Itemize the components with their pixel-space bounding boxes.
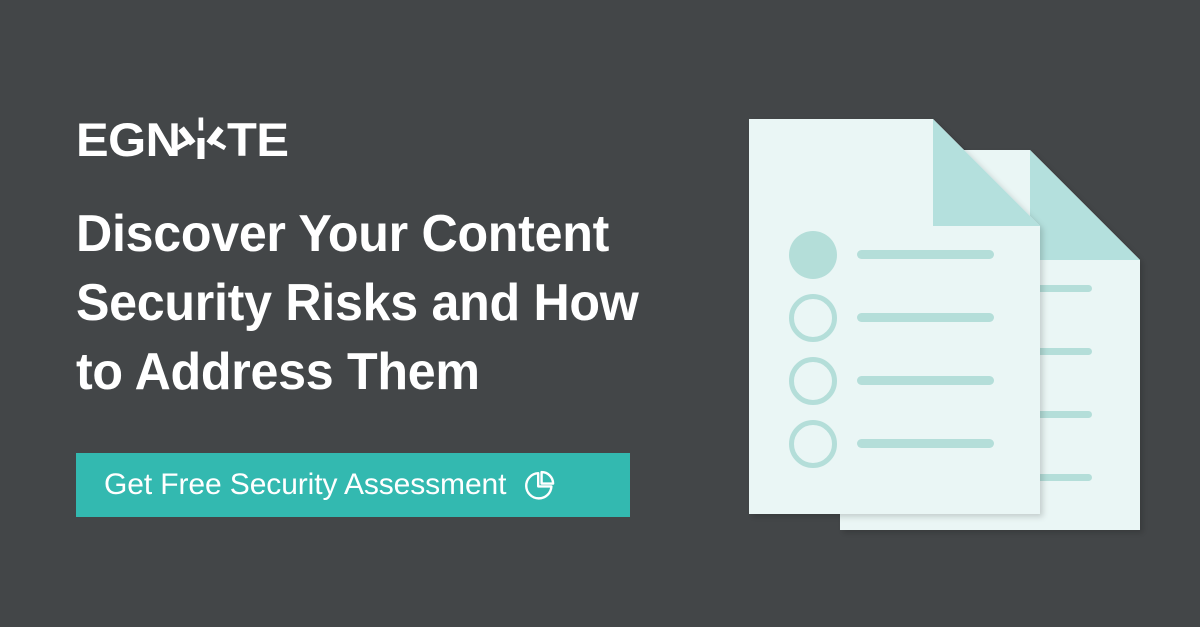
bullet-filled [789, 231, 837, 279]
logo-wordmark: EGN [76, 113, 286, 165]
cta-button-label: Get Free Security Assessment [104, 470, 506, 500]
headline: Discover Your Content Security Risks and… [76, 200, 694, 407]
documents-illustration [730, 100, 1170, 580]
get-free-security-assessment-button[interactable]: Get Free Security Assessment [76, 453, 630, 517]
pie-chart-icon [522, 469, 556, 503]
egnyte-y-star-icon [175, 114, 227, 166]
logo-letters-after-mark: TE [227, 116, 288, 163]
logo-letters-before-mark: EGN [76, 116, 180, 163]
egnyte-logo[interactable]: EGN [76, 113, 286, 165]
content-column: EGN [76, 0, 696, 627]
promo-banner: EGN [0, 0, 1200, 627]
